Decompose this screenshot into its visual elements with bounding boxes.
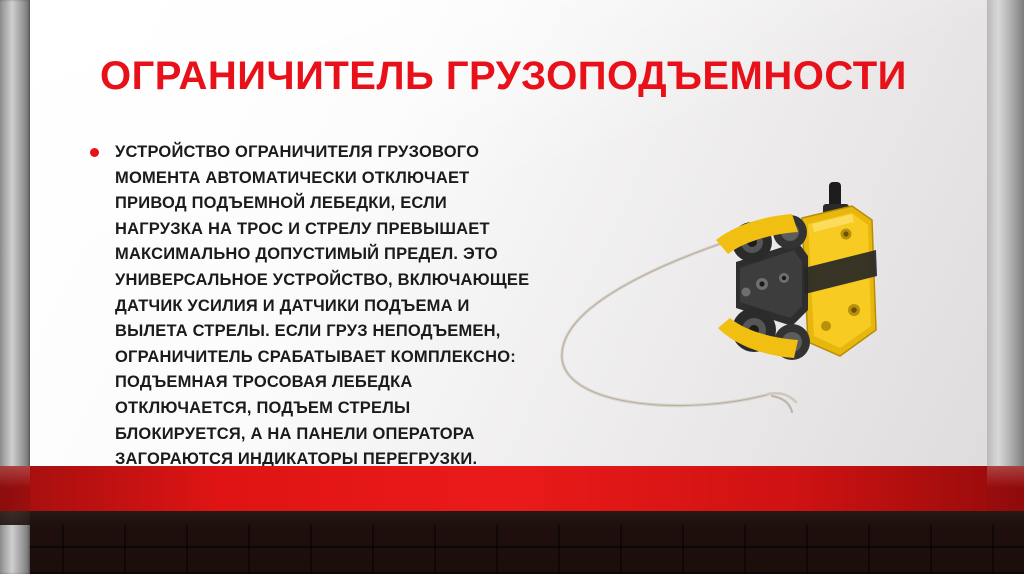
bullet-list-item: УСТРОЙСТВО ОГРАНИЧИТЕЛЯ ГРУЗОВОГО МОМЕНТ… [90,140,530,473]
device-photo [540,180,940,440]
dark-divider-band [0,511,1024,525]
slide: ОГРАНИЧИТЕЛЬ ГРУЗОПОДЪЕМНОСТИ УСТРОЙСТВО… [0,0,1024,574]
red-band-inner [30,466,987,511]
bullet-item-text: УСТРОЙСТВО ОГРАНИЧИТЕЛЯ ГРУЗОВОГО МОМЕНТ… [115,140,530,473]
right-accent-strip [987,0,1024,466]
page-title: ОГРАНИЧИТЕЛЬ ГРУЗОПОДЪЕМНОСТИ [100,53,900,99]
bullet-dot-icon [90,148,99,157]
